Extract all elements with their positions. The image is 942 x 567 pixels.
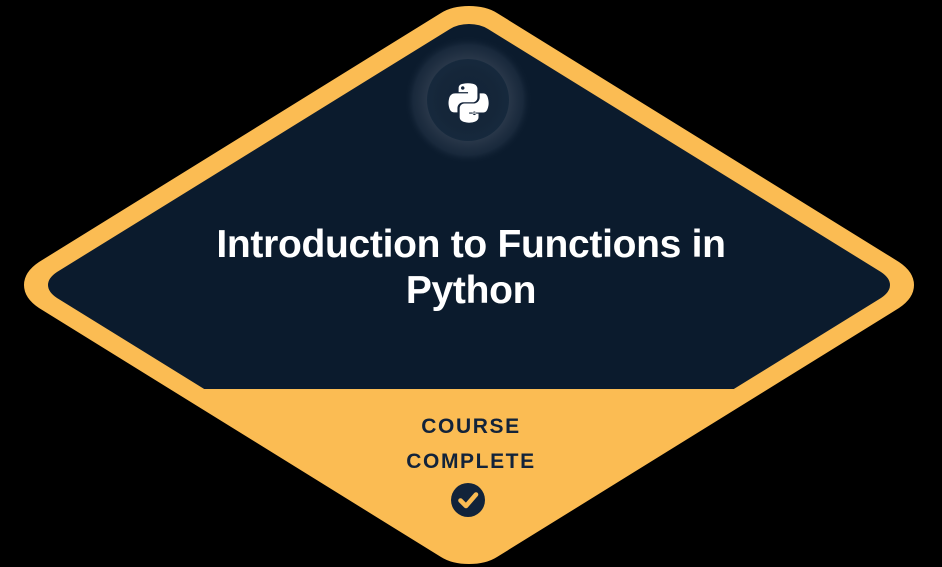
- check-circle-icon: [451, 483, 485, 517]
- course-completion-badge: [0, 0, 942, 567]
- check-circle-background: [451, 483, 485, 517]
